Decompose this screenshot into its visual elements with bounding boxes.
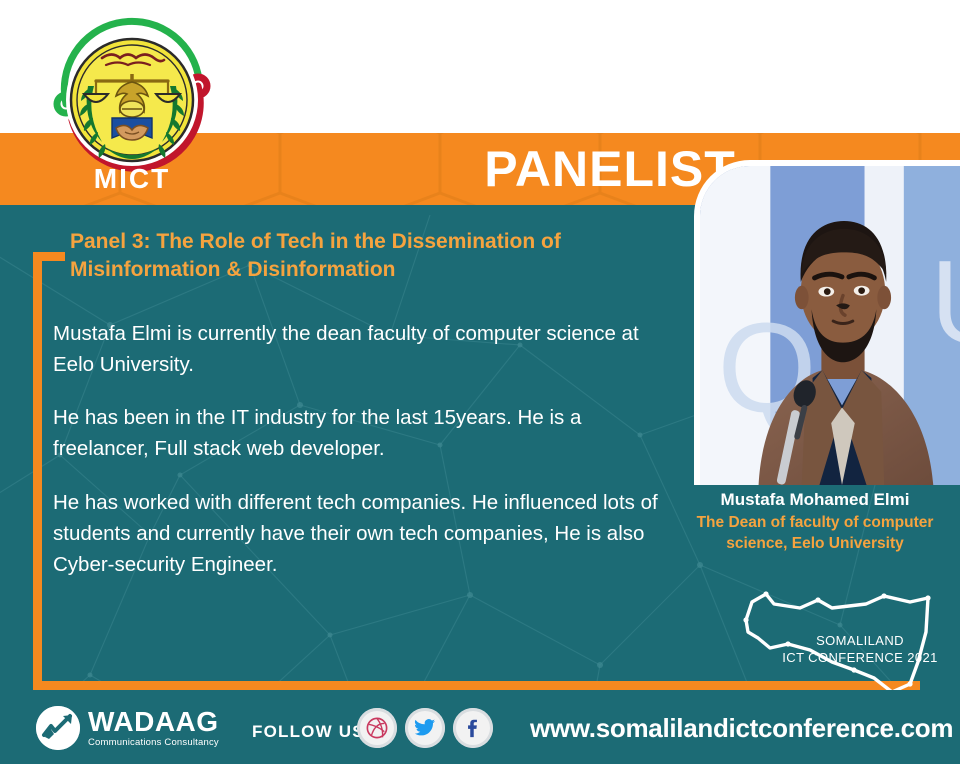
bio-paragraph-2: He has been in the IT industry for the l… <box>53 402 673 464</box>
speaker-photo: Q U <box>700 166 960 485</box>
sponsor-logo: WADAAG Communications Consultancy <box>36 706 219 750</box>
map-badge-caption: SOMALILAND ICT CONFERENCE 2021 <box>780 633 940 666</box>
dribbble-icon[interactable] <box>357 708 397 748</box>
facebook-icon[interactable] <box>453 708 493 748</box>
speaker-name: Mustafa Mohamed Elmi <box>680 490 950 510</box>
twitter-icon[interactable] <box>405 708 445 748</box>
mict-label: MICT <box>32 163 232 195</box>
speaker-photo-frame: Q U <box>694 160 960 485</box>
social-links[interactable] <box>357 708 493 748</box>
svg-text:U: U <box>930 236 960 368</box>
accent-bracket-top-stub <box>33 252 65 261</box>
wadaag-mark-icon <box>36 706 80 750</box>
speaker-portrait-illustration: Q U <box>700 166 960 485</box>
panel-title: Panel 3: The Role of Tech in the Dissemi… <box>70 228 680 285</box>
bio-paragraph-3: He has worked with different tech compan… <box>53 487 673 580</box>
speaker-role: The Dean of faculty of computer science,… <box>690 513 940 554</box>
speaker-bio: Mustafa Elmi is currently the dean facul… <box>53 318 673 580</box>
sponsor-tagline: Communications Consultancy <box>88 738 219 748</box>
dribbble-glyph <box>366 717 388 739</box>
wadaag-arrow-glyph <box>36 706 80 750</box>
website-url[interactable]: www.somalilandictconference.com <box>530 713 953 744</box>
facebook-f-glyph <box>462 717 484 739</box>
conference-panelist-poster: Panel 3: The Role of Tech in the Dissemi… <box>0 0 960 764</box>
map-badge-line-2: ICT CONFERENCE 2021 <box>780 650 940 667</box>
follow-us-label: FOLLOW US <box>252 722 365 742</box>
sponsor-name: WADAAG <box>88 708 219 736</box>
twitter-bird-glyph <box>414 717 436 739</box>
sponsor-wordmark: WADAAG Communications Consultancy <box>88 708 219 748</box>
map-badge-line-1: SOMALILAND <box>780 633 940 650</box>
bio-paragraph-1: Mustafa Elmi is currently the dean facul… <box>53 318 673 380</box>
accent-bracket-vertical <box>33 252 42 690</box>
